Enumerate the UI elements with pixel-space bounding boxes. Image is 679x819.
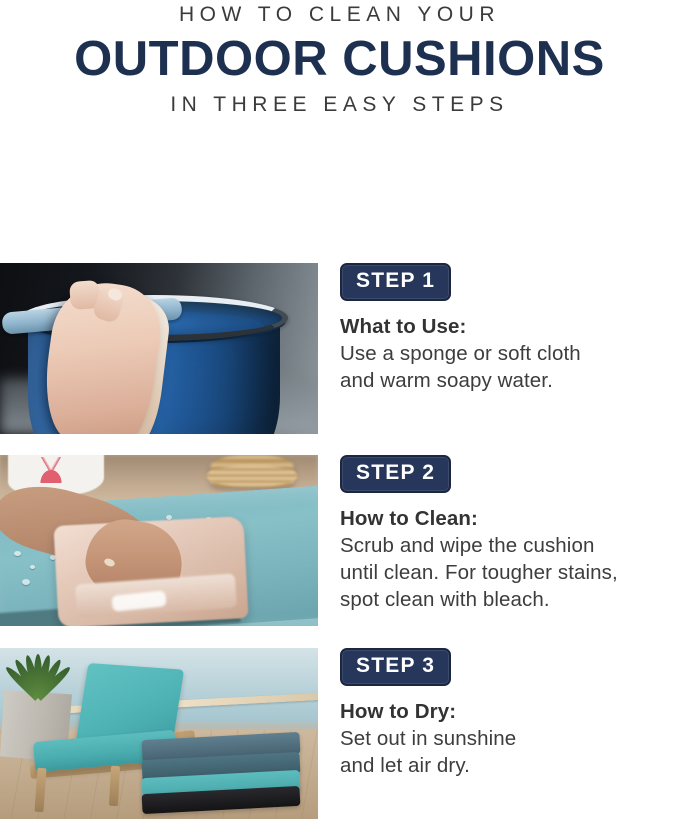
cushion-stack [142,736,302,812]
header-kicker: HOW TO CLEAN YOUR [0,2,679,28]
step-1-badge: STEP 1 [340,263,451,301]
step-1-title: What to Use: [340,313,679,340]
step-2-copy: STEP 2 How to Clean: Scrub and wipe the … [340,455,679,613]
step-3-body: Set out in sunshine and let air dry. [340,725,679,779]
step-1-body-line: and warm soapy water. [340,367,679,394]
water-droplet [22,579,30,585]
step-3-title: How to Dry: [340,698,679,725]
step-2-body-line: spot clean with bleach. [340,586,679,613]
page-title: OUTDOOR CUSHIONS [0,30,679,88]
step-2-body: Scrub and wipe the cushion until clean. … [340,532,679,613]
step-3-body-line: and let air dry. [340,752,679,779]
step-2-title: How to Clean: [340,505,679,532]
step-2-photo [0,455,318,626]
step-1-copy: STEP 1 What to Use: Use a sponge or soft… [340,263,679,394]
step-2-body-line: until clean. For tougher stains, [340,559,679,586]
step-1-photo [0,263,318,434]
palm-print-icon [30,457,72,483]
header: HOW TO CLEAN YOUR OUTDOOR CUSHIONS IN TH… [0,0,679,120]
step-2-badge: STEP 2 [340,455,451,493]
step-3-photo [0,648,318,819]
step-1-body-line: Use a sponge or soft cloth [340,340,679,367]
water-droplet [14,551,21,556]
step-1-body: Use a sponge or soft cloth and warm soap… [340,340,679,394]
step-3-copy: STEP 3 How to Dry: Set out in sunshine a… [340,648,679,779]
water-droplet [30,565,35,569]
step-3-body-line: Set out in sunshine [340,725,679,752]
step-3-badge: STEP 3 [340,648,451,686]
basket-rim [206,465,298,487]
header-subline: IN THREE EASY STEPS [0,90,679,120]
agave-plant-icon [6,650,72,698]
step-2-body-line: Scrub and wipe the cushion [340,532,679,559]
